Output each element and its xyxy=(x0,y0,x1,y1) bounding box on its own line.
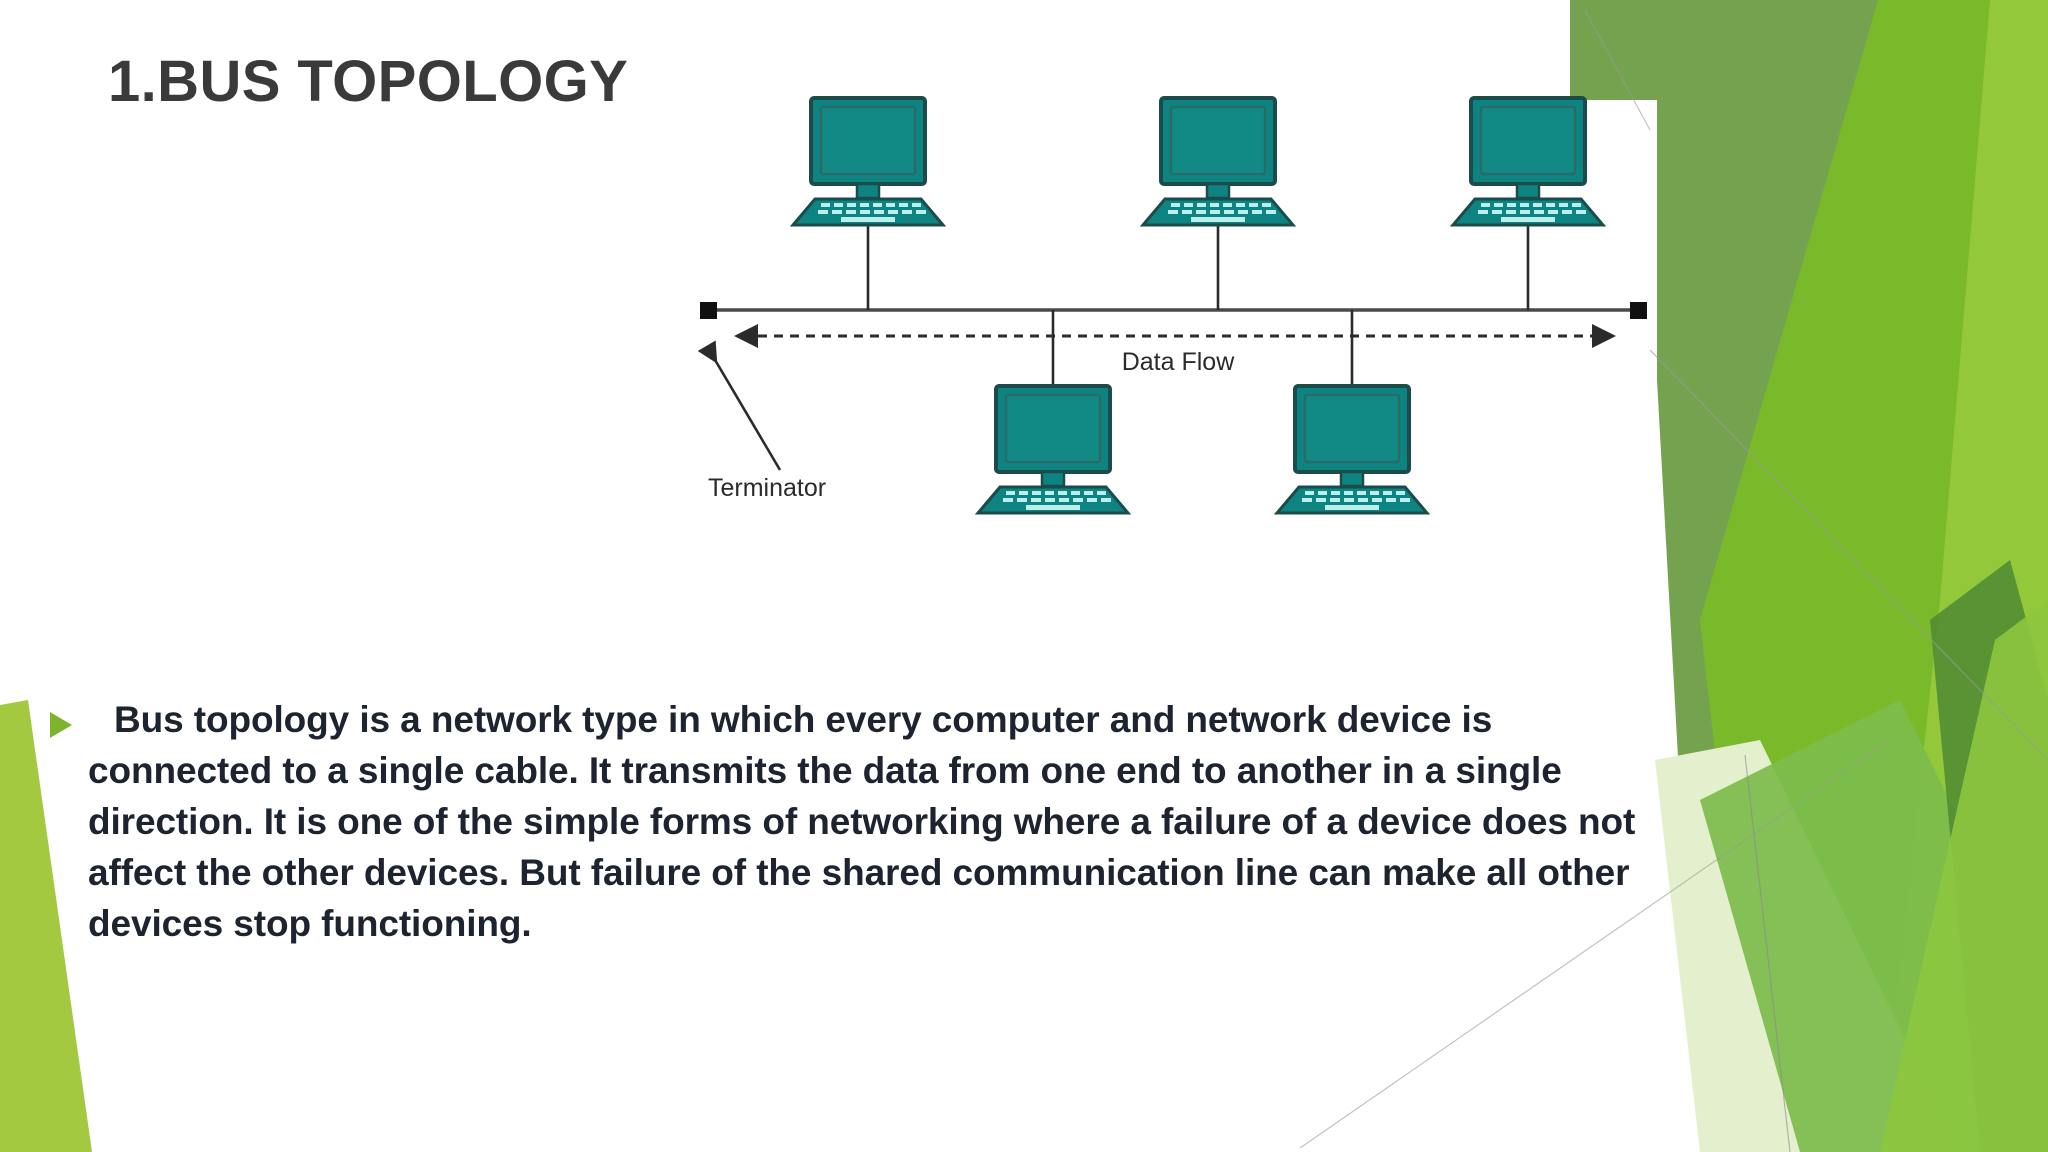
deco-bright-green-top xyxy=(1700,0,2048,1152)
deco-hairline-1 xyxy=(1650,350,2048,760)
terminator-left xyxy=(700,302,717,319)
deco-pale-green-bottom xyxy=(1655,740,1960,1152)
body-paragraph: Bus topology is a network type in which … xyxy=(88,694,1648,949)
computer-bottom-1 xyxy=(978,386,1128,513)
computer-bottom-2 xyxy=(1277,386,1427,513)
deco-hairline-4 xyxy=(1745,755,1790,1152)
computer-top-2 xyxy=(1143,98,1293,225)
terminator-callout-line xyxy=(708,348,780,470)
deco-light-green-right xyxy=(1880,0,2048,1152)
body-text-block: Bus topology is a network type in which … xyxy=(48,694,1648,949)
deco-mid-green-bottom xyxy=(1700,700,2048,1152)
computer-top-1 xyxy=(793,98,943,225)
bus-topology-diagram: Data Flow Terminator xyxy=(680,78,1660,528)
terminator-label: Terminator xyxy=(708,474,826,502)
terminator-right xyxy=(1630,302,1647,319)
slide-canvas: 1.BUS TOPOLOGY xyxy=(0,0,2048,1152)
computer-top-3 xyxy=(1453,98,1603,225)
deco-bright-green-bottom xyxy=(1880,600,2048,1152)
page-title: 1.BUS TOPOLOGY xyxy=(108,48,628,115)
data-flow-label: Data Flow xyxy=(1122,348,1235,376)
deco-dark-green-bottom xyxy=(1930,560,2048,1152)
triangle-right-bullet-icon xyxy=(48,710,74,740)
